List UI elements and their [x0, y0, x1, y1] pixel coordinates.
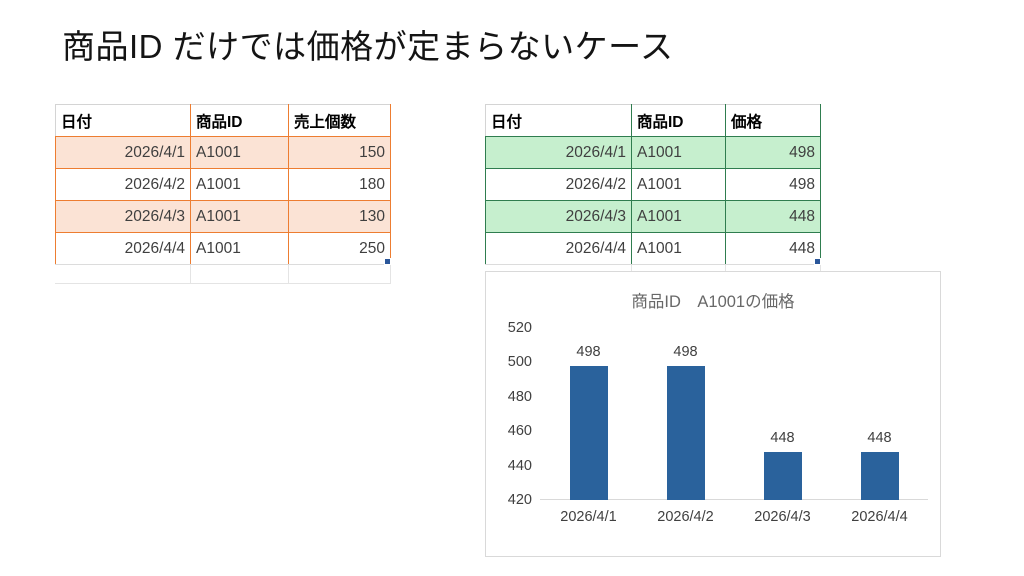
column-header-date: 日付: [486, 105, 632, 137]
price-table[interactable]: 日付 商品ID 価格 2026/4/1 A1001 498 2026/4/2 A…: [485, 104, 821, 265]
table-row[interactable]: 2026/4/3 A1001 130: [56, 201, 391, 233]
cell-date[interactable]: 2026/4/2: [56, 169, 191, 201]
column-header-quantity: 売上個数: [289, 105, 391, 137]
fill-handle[interactable]: [384, 258, 391, 265]
chart-bar[interactable]: [861, 452, 899, 500]
table-row[interactable]: 2026/4/1 A1001 150: [56, 137, 391, 169]
table-row[interactable]: 2026/4/2 A1001 498: [486, 169, 821, 201]
chart-plot-area: 4204404604805005204982026/4/14982026/4/2…: [540, 328, 928, 500]
cell-date[interactable]: 2026/4/1: [56, 137, 191, 169]
chart-bar[interactable]: [570, 366, 608, 500]
chart-bar-value-label: 448: [867, 430, 891, 446]
column-header-product: 商品ID: [632, 105, 726, 137]
cell-price[interactable]: 448: [726, 201, 821, 233]
y-axis-tick-label: 500: [508, 354, 532, 370]
price-grid: 日付 商品ID 価格 2026/4/1 A1001 498 2026/4/2 A…: [485, 104, 821, 265]
cell-product[interactable]: A1001: [191, 233, 289, 265]
chart-bar-group: 4982026/4/1: [540, 328, 637, 500]
column-header-price: 価格: [726, 105, 821, 137]
chart-bar-group: 4982026/4/2: [637, 328, 734, 500]
chart-bar-group: 4482026/4/3: [734, 328, 831, 500]
chart-bar-value-label: 448: [770, 430, 794, 446]
page-title: 商品ID だけでは価格が定まらないケース: [62, 26, 674, 67]
chart-bar-group: 4482026/4/4: [831, 328, 928, 500]
cell-product[interactable]: A1001: [191, 137, 289, 169]
cell-quantity[interactable]: 180: [289, 169, 391, 201]
cell-product[interactable]: A1001: [632, 201, 726, 233]
chart-title: 商品ID A1001の価格: [486, 288, 940, 312]
cell-date[interactable]: 2026/4/3: [486, 201, 632, 233]
cell-date[interactable]: 2026/4/1: [486, 137, 632, 169]
cell-product[interactable]: A1001: [632, 137, 726, 169]
chart-bar-value-label: 498: [576, 344, 600, 360]
cell-product[interactable]: A1001: [191, 169, 289, 201]
cell-product[interactable]: A1001: [632, 169, 726, 201]
sales-quantity-grid: 日付 商品ID 売上個数 2026/4/1 A1001 150 2026/4/2…: [55, 104, 391, 265]
price-bar-chart[interactable]: 商品ID A1001の価格 4204404604805005204982026/…: [485, 271, 941, 557]
x-axis-tick-label: 2026/4/4: [851, 509, 907, 525]
y-axis-tick-label: 440: [508, 458, 532, 474]
column-header-product: 商品ID: [191, 105, 289, 137]
cell-product[interactable]: A1001: [191, 201, 289, 233]
x-axis-tick-label: 2026/4/2: [657, 509, 713, 525]
cell-date[interactable]: 2026/4/4: [486, 233, 632, 265]
table-header-row: 日付 商品ID 価格: [486, 105, 821, 137]
cell-price[interactable]: 498: [726, 137, 821, 169]
table-row[interactable]: 2026/4/2 A1001 180: [56, 169, 391, 201]
x-axis-tick-label: 2026/4/3: [754, 509, 810, 525]
y-axis-tick-label: 460: [508, 423, 532, 439]
chart-bar-value-label: 498: [673, 344, 697, 360]
table-row[interactable]: 2026/4/3 A1001 448: [486, 201, 821, 233]
table-header-row: 日付 商品ID 売上個数: [56, 105, 391, 137]
cell-product[interactable]: A1001: [632, 233, 726, 265]
y-axis-tick-label: 520: [508, 320, 532, 336]
cell-date[interactable]: 2026/4/4: [56, 233, 191, 265]
cell-quantity[interactable]: 150: [289, 137, 391, 169]
chart-bar[interactable]: [764, 452, 802, 500]
sales-quantity-table[interactable]: 日付 商品ID 売上個数 2026/4/1 A1001 150 2026/4/2…: [55, 104, 391, 265]
y-axis-tick-label: 480: [508, 389, 532, 405]
x-axis-tick-label: 2026/4/1: [560, 509, 616, 525]
cell-price[interactable]: 498: [726, 169, 821, 201]
cell-quantity[interactable]: 130: [289, 201, 391, 233]
table-row[interactable]: 2026/4/4 A1001 448: [486, 233, 821, 265]
y-axis-tick-label: 420: [508, 492, 532, 508]
cell-date[interactable]: 2026/4/3: [56, 201, 191, 233]
cell-date[interactable]: 2026/4/2: [486, 169, 632, 201]
cell-quantity[interactable]: 250: [289, 233, 391, 265]
chart-bar[interactable]: [667, 366, 705, 500]
table-row[interactable]: 2026/4/4 A1001 250: [56, 233, 391, 265]
cell-price[interactable]: 448: [726, 233, 821, 265]
fill-handle[interactable]: [814, 258, 821, 265]
column-header-date: 日付: [56, 105, 191, 137]
table-row[interactable]: 2026/4/1 A1001 498: [486, 137, 821, 169]
empty-grid-row: [55, 264, 391, 284]
